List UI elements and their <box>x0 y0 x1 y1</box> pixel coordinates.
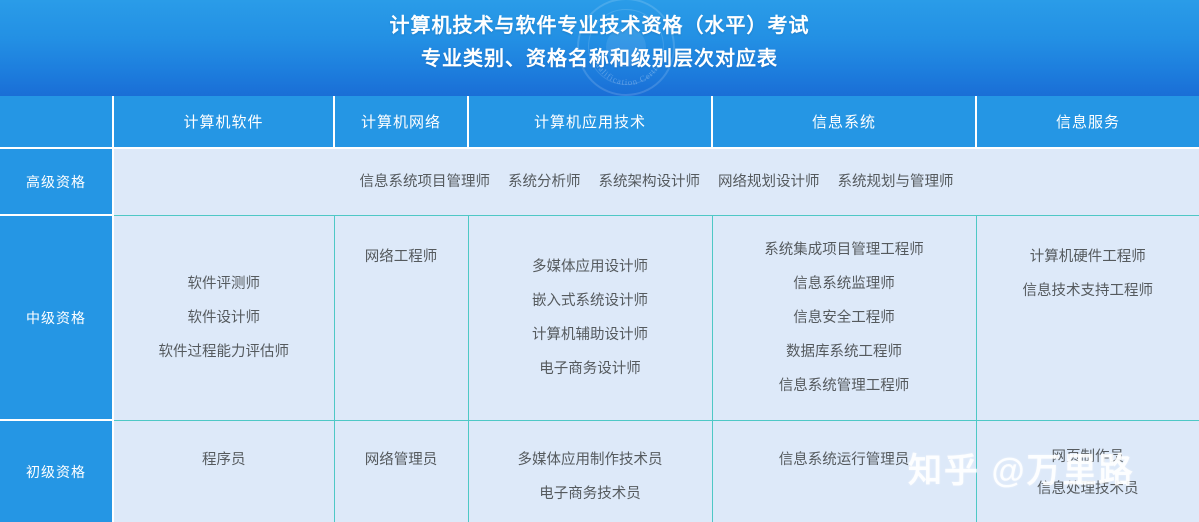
column-header-information-system: 信息系统 <box>712 96 976 148</box>
cell-intermediate-infoservice: 计算机硬件工程师 信息技术支持工程师 <box>976 215 1199 420</box>
qualification-item: 信息处理技术员 <box>977 471 1199 507</box>
senior-item: 网络规划设计师 <box>718 174 820 190</box>
cell-junior-application: 多媒体应用制作技术员 电子商务技术员 <box>468 420 712 522</box>
qualification-item: 信息系统监理师 <box>713 267 976 301</box>
cell-intermediate-infosystem: 系统集成项目管理工程师 信息系统监理师 信息安全工程师 数据库系统工程师 信息系… <box>712 215 976 420</box>
qualification-item: 软件评测师 <box>114 267 334 301</box>
qualification-item: 多媒体应用制作技术员 <box>469 443 712 477</box>
qualification-item: 信息系统运行管理员 <box>713 443 976 477</box>
senior-item: 系统分析师 <box>508 174 581 190</box>
table-corner-cell <box>0 96 113 148</box>
qualification-item: 电子商务设计师 <box>469 352 712 386</box>
page-title-line-1: 计算机技术与软件专业技术资格（水平）考试 <box>0 11 1199 41</box>
table-header-row: 计算机软件 计算机网络 计算机应用技术 信息系统 信息服务 <box>0 96 1199 148</box>
page-title-line-2: 专业类别、资格名称和级别层次对应表 <box>0 44 1199 74</box>
qualification-item: 软件过程能力评估师 <box>114 335 334 369</box>
senior-item: 系统规划与管理师 <box>838 174 954 190</box>
qualification-item: 信息安全工程师 <box>713 301 976 335</box>
qualification-item: 多媒体应用设计师 <box>469 250 712 284</box>
qualification-item: 网络工程师 <box>335 240 468 274</box>
qualification-item: 嵌入式系统设计师 <box>469 284 712 318</box>
exam-qualification-table-page: Qualification Certification 计算机技术与软件专业技术… <box>0 0 1199 522</box>
qualification-table: 计算机软件 计算机网络 计算机应用技术 信息系统 信息服务 高级资格 信息系统项… <box>0 96 1199 522</box>
banner-title-group: 计算机技术与软件专业技术资格（水平）考试 专业类别、资格名称和级别层次对应表 <box>0 0 1199 74</box>
qualification-item: 网络管理员 <box>335 443 468 477</box>
column-header-computer-network: 计算机网络 <box>334 96 468 148</box>
cell-junior-infosystem: 信息系统运行管理员 <box>712 420 976 522</box>
qualification-item: 计算机辅助设计师 <box>469 318 712 352</box>
cell-senior-merged: 信息系统项目管理师系统分析师系统架构设计师网络规划设计师系统规划与管理师 <box>113 148 1199 215</box>
cell-junior-infoservice: 网页制作员 信息处理技术员 <box>976 420 1199 522</box>
header-banner: Qualification Certification 计算机技术与软件专业技术… <box>0 0 1199 96</box>
qualification-item: 程序员 <box>114 443 334 477</box>
row-header-senior: 高级资格 <box>0 148 113 215</box>
senior-item-list: 信息系统项目管理师系统分析师系统架构设计师网络规划设计师系统规划与管理师 <box>114 170 1199 194</box>
table-row-senior: 高级资格 信息系统项目管理师系统分析师系统架构设计师网络规划设计师系统规划与管理… <box>0 148 1199 215</box>
table-row-intermediate: 中级资格 软件评测师 软件设计师 软件过程能力评估师 网络工程师 多媒体应用设计… <box>0 215 1199 420</box>
column-header-computer-software: 计算机软件 <box>113 96 334 148</box>
senior-item: 系统架构设计师 <box>599 174 701 190</box>
qualification-item: 系统集成项目管理工程师 <box>713 233 976 267</box>
cell-intermediate-application: 多媒体应用设计师 嵌入式系统设计师 计算机辅助设计师 电子商务设计师 <box>468 215 712 420</box>
qualification-item: 信息技术支持工程师 <box>977 274 1199 308</box>
table-row-junior: 初级资格 程序员 网络管理员 多媒体应用制作技术员 电子商务技术员 信息系统运行… <box>0 420 1199 522</box>
row-header-intermediate: 中级资格 <box>0 215 113 420</box>
qualification-item: 软件设计师 <box>114 301 334 335</box>
row-header-junior: 初级资格 <box>0 420 113 522</box>
cell-intermediate-software: 软件评测师 软件设计师 软件过程能力评估师 <box>113 215 334 420</box>
column-header-computer-application: 计算机应用技术 <box>468 96 712 148</box>
cell-junior-software: 程序员 <box>113 420 334 522</box>
qualification-item: 信息系统管理工程师 <box>713 369 976 403</box>
cell-intermediate-network: 网络工程师 <box>334 215 468 420</box>
qualification-item: 数据库系统工程师 <box>713 335 976 369</box>
qualification-item: 电子商务技术员 <box>469 477 712 511</box>
senior-item: 信息系统项目管理师 <box>360 174 491 190</box>
cell-junior-network: 网络管理员 <box>334 420 468 522</box>
qualification-item: 网页制作员 <box>977 443 1199 471</box>
column-header-information-service: 信息服务 <box>976 96 1199 148</box>
qualification-item: 计算机硬件工程师 <box>977 240 1199 274</box>
